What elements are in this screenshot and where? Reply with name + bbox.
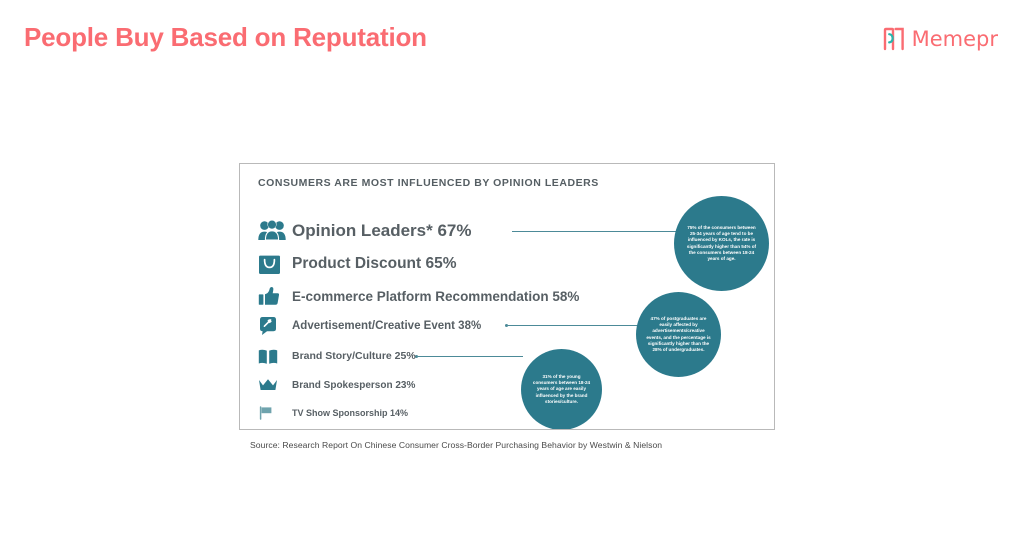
list-item-label: Opinion Leaders* 67% bbox=[292, 221, 472, 241]
list-item[interactable]: Brand Spokesperson 23% bbox=[258, 370, 415, 400]
annotation-bubble-opinion-leaders: 75% of the consumers between 25-34 years… bbox=[674, 196, 769, 291]
list-item-label: Brand Spokesperson 23% bbox=[292, 380, 415, 391]
connector-line-advertisement bbox=[508, 325, 638, 326]
connector-line-brand-story bbox=[418, 356, 523, 357]
infographic-panel: CONSUMERS ARE MOST INFLUENCED BY OPINION… bbox=[239, 163, 775, 430]
list-item-label: Advertisement/Creative Event 38% bbox=[292, 320, 481, 332]
flag-icon bbox=[258, 406, 292, 420]
annotation-text: 31% of the young consumers between 18-24… bbox=[531, 374, 592, 404]
crown-icon bbox=[258, 378, 292, 392]
list-item[interactable]: Product Discount 65% bbox=[258, 249, 457, 279]
annotation-text: 47% of postgraduates are easily affected… bbox=[646, 316, 711, 352]
thumbs-up-icon bbox=[258, 286, 292, 306]
megaphone-icon bbox=[258, 316, 292, 336]
list-item[interactable]: Opinion Leaders* 67% bbox=[258, 216, 472, 246]
brand-wordmark: Memepr bbox=[912, 29, 998, 50]
list-item[interactable]: E-commerce Platform Recommendation 58% bbox=[258, 281, 579, 311]
list-item[interactable]: Brand Story/Culture 25% bbox=[258, 341, 416, 371]
source-caption: Source: Research Report On Chinese Consu… bbox=[250, 440, 662, 450]
people-group-icon bbox=[258, 220, 292, 242]
infographic-heading: CONSUMERS ARE MOST INFLUENCED BY OPINION… bbox=[258, 177, 599, 189]
connector-line-opinion-leaders bbox=[512, 231, 677, 232]
page-title: People Buy Based on Reputation bbox=[24, 22, 427, 53]
list-item-label: E-commerce Platform Recommendation 58% bbox=[292, 289, 579, 304]
shopping-bag-icon bbox=[258, 253, 292, 275]
annotation-text: 75% of the consumers between 25-34 years… bbox=[685, 225, 758, 261]
list-item-label: Product Discount 65% bbox=[292, 255, 457, 273]
list-item-label: Brand Story/Culture 25% bbox=[292, 350, 416, 362]
annotation-bubble-brand-story: 31% of the young consumers between 18-24… bbox=[521, 349, 602, 430]
slide-header: People Buy Based on Reputation Memepr bbox=[0, 0, 1024, 80]
list-item-label: TV Show Sponsorship 14% bbox=[292, 408, 408, 418]
list-item[interactable]: Advertisement/Creative Event 38% bbox=[258, 311, 481, 341]
annotation-bubble-advertisement: 47% of postgraduates are easily affected… bbox=[636, 292, 721, 377]
memepr-logomark-icon bbox=[883, 27, 905, 51]
list-item[interactable]: TV Show Sponsorship 14% bbox=[258, 398, 408, 428]
brand-logo: Memepr bbox=[883, 27, 998, 51]
open-book-icon bbox=[258, 348, 292, 365]
connector-dot-advertisement bbox=[505, 324, 508, 327]
